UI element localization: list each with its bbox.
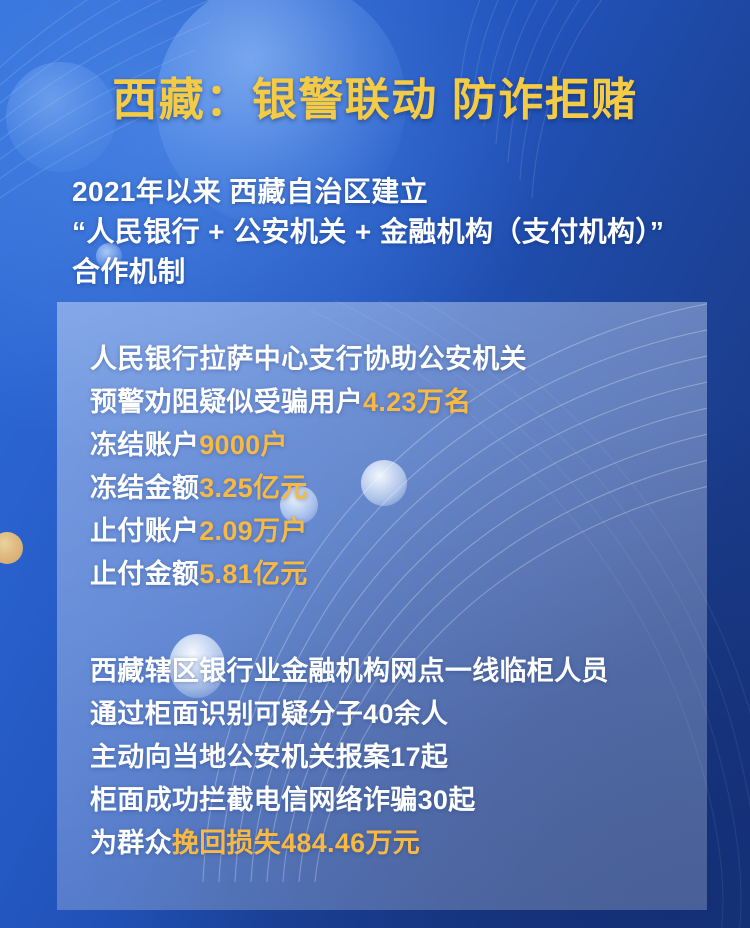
stats-line: 冻结金额3.25亿元	[90, 467, 690, 510]
stats-block-primary: 人民银行拉萨中心支行协助公安机关 预警劝阻疑似受骗用户4.23万名 冻结账户90…	[90, 338, 690, 596]
subtitle: 2021年以来 西藏自治区建立 “人民银行 + 公安机关 + 金融机构（支付机构…	[72, 172, 732, 292]
stats-line: 为群众挽回损失484.46万元	[90, 822, 690, 865]
stats-line: 止付金额5.81亿元	[90, 553, 690, 596]
page-title: 西藏：银警联动 防诈拒赌	[0, 74, 750, 126]
infographic-poster: 西藏：银警联动 防诈拒赌 2021年以来 西藏自治区建立 “人民银行 + 公安机…	[0, 0, 750, 928]
subtitle-line-1: 2021年以来 西藏自治区建立	[72, 172, 732, 212]
stats-line: 预警劝阻疑似受骗用户4.23万名	[90, 381, 690, 424]
stats-line: 止付账户2.09万户	[90, 510, 690, 553]
stats-line: 通过柜面识别可疑分子40余人	[90, 693, 690, 736]
stats-line: 人民银行拉萨中心支行协助公安机关	[90, 338, 690, 381]
stats-line: 西藏辖区银行业金融机构网点一线临柜人员	[90, 650, 690, 693]
subtitle-line-2: “人民银行 + 公安机关 + 金融机构（支付机构）”	[72, 212, 732, 252]
stats-line: 柜面成功拦截电信网络诈骗30起	[90, 779, 690, 822]
stats-line: 冻结账户9000户	[90, 424, 690, 467]
stats-block-secondary: 西藏辖区银行业金融机构网点一线临柜人员 通过柜面识别可疑分子40余人 主动向当地…	[90, 650, 690, 865]
content-panel: 人民银行拉萨中心支行协助公安机关 预警劝阻疑似受骗用户4.23万名 冻结账户90…	[57, 302, 707, 910]
stats-line: 主动向当地公安机关报案17起	[90, 736, 690, 779]
subtitle-line-3: 合作机制	[72, 252, 732, 292]
decorative-gold-dot	[0, 532, 23, 564]
